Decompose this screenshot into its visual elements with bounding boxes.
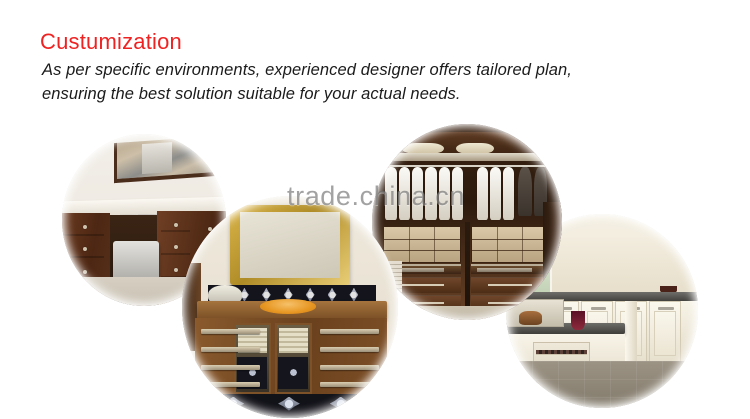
- slide-canvas: Custumization As per specific environmen…: [0, 0, 750, 419]
- description-line-2: ensuring the best solution suitable for …: [42, 82, 702, 106]
- description-line-1: As per specific environments, experience…: [42, 61, 572, 79]
- photo-rustic-vanity-gold-mirror: [182, 196, 398, 418]
- wine-glass: [571, 311, 584, 330]
- copper-basin: [260, 299, 316, 313]
- backsplash: [552, 237, 698, 291]
- floor: [372, 306, 562, 320]
- photo-walk-in-wardrobe: [372, 124, 562, 320]
- patterned-rug: [191, 394, 390, 418]
- photo-3-content: [182, 196, 398, 418]
- glass-display-shelf: [471, 264, 549, 274]
- tile-floor: [506, 361, 698, 408]
- side-panel: [543, 202, 562, 320]
- top-shelf: [382, 153, 553, 161]
- page-title: Custumization: [40, 30, 182, 54]
- glass-door-right: [275, 323, 312, 394]
- description-text: As per specific environments, experience…: [42, 58, 702, 107]
- gold-framed-mirror: [230, 205, 351, 285]
- cubby-block-right: [471, 226, 549, 263]
- mirror: [114, 135, 226, 183]
- photo-2-content: [372, 124, 562, 320]
